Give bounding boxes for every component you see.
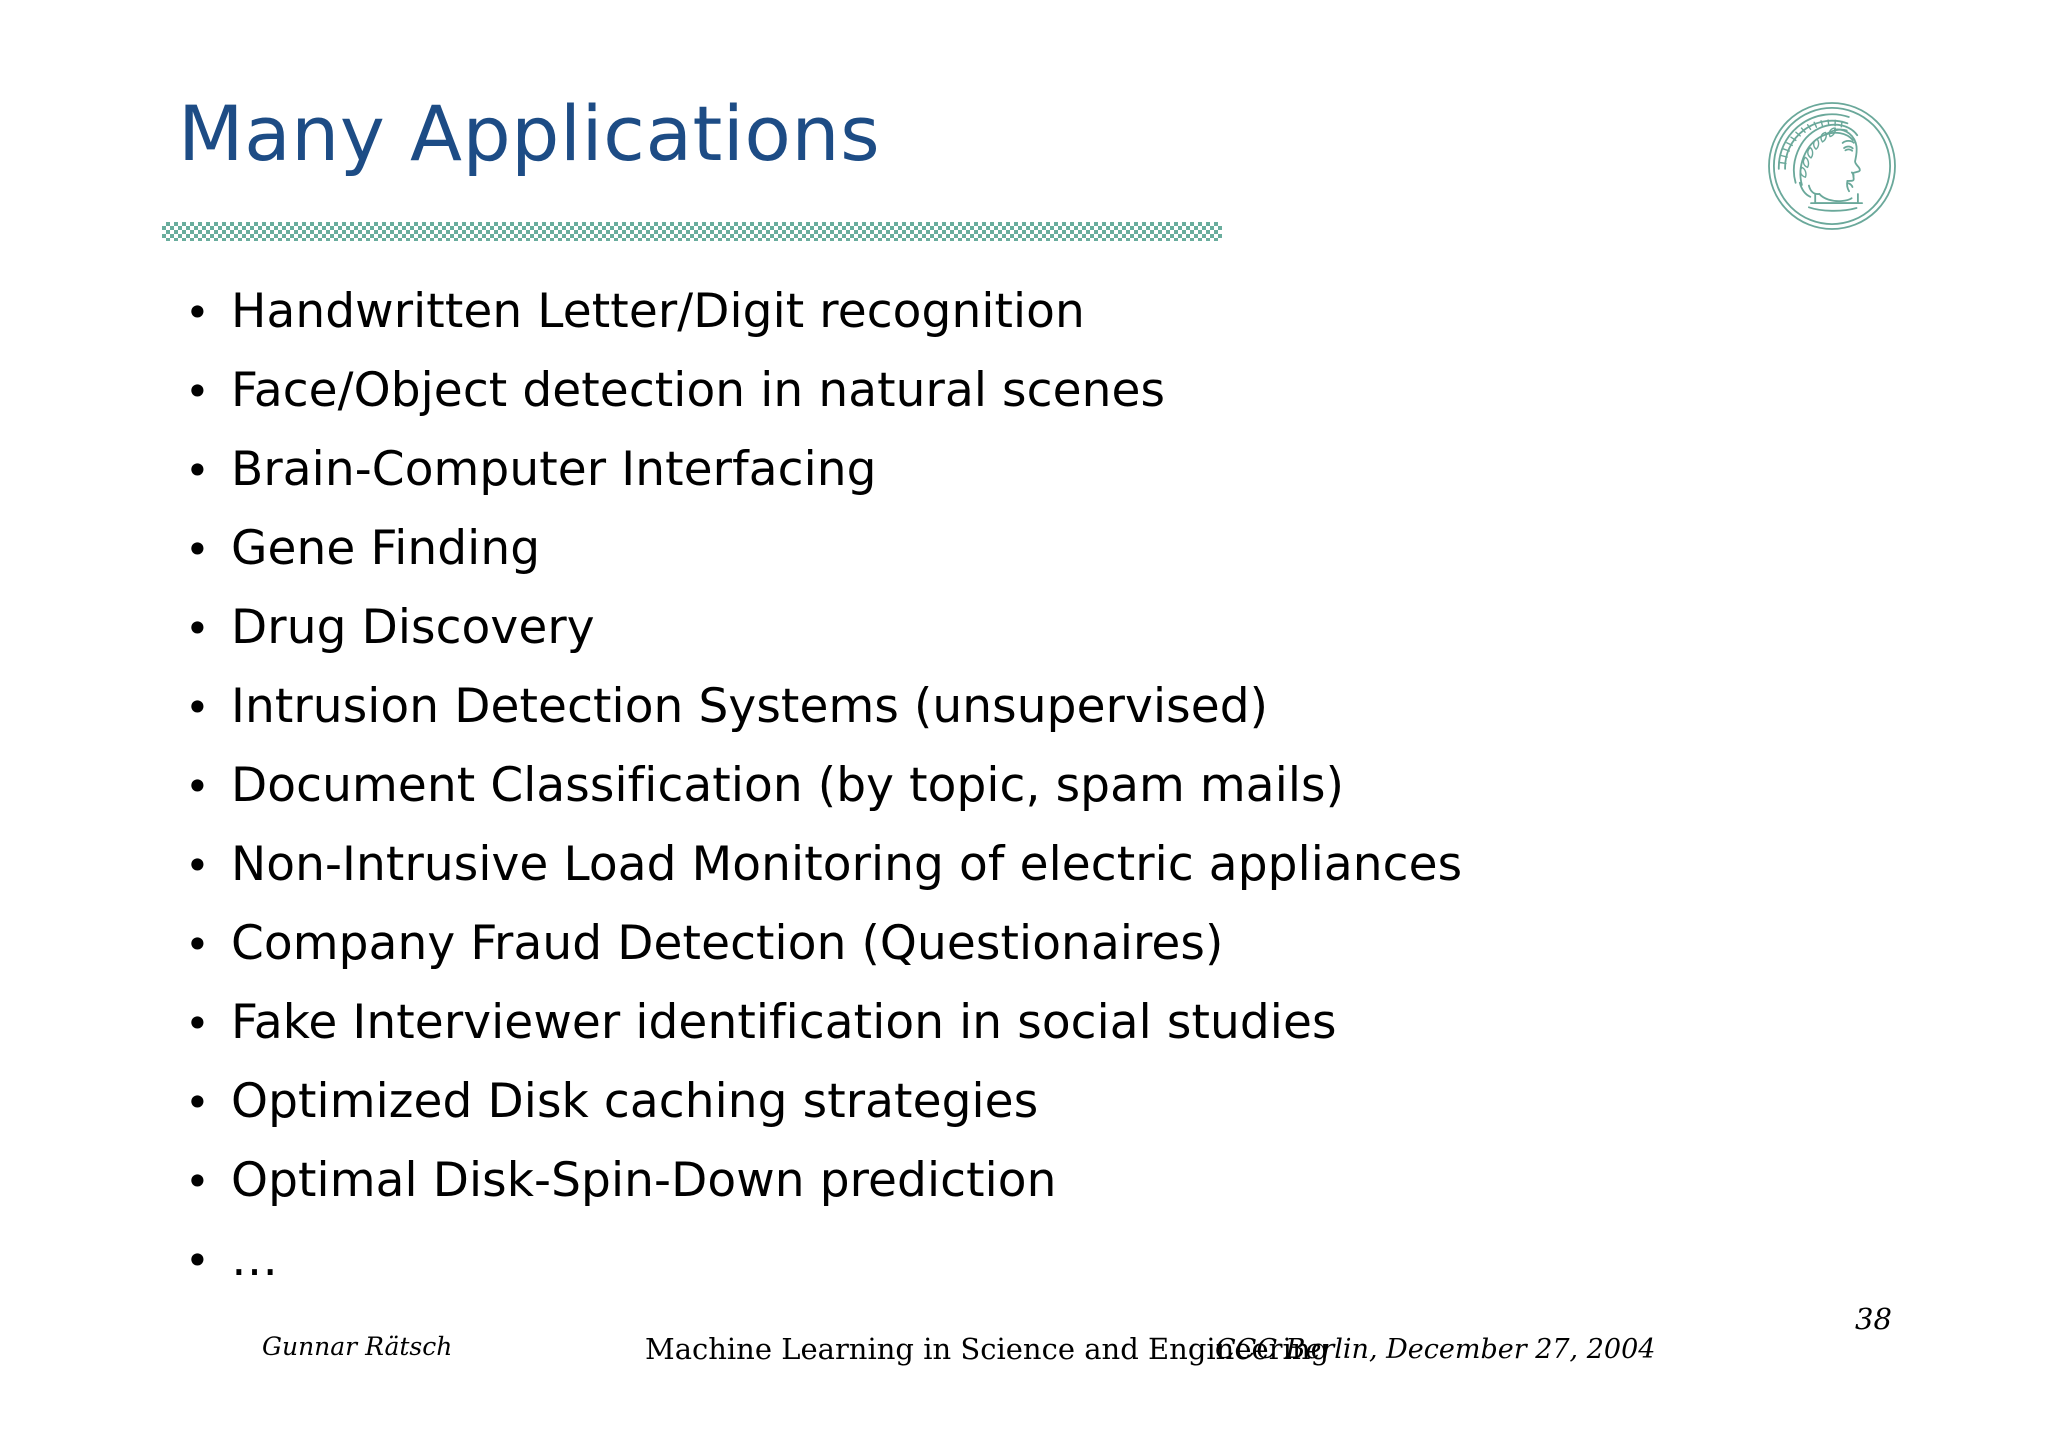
bullet-marker-icon: • (175, 984, 231, 1063)
bullet-marker-icon: • (175, 1221, 231, 1300)
list-item: • Document Classification (by topic, spa… (175, 746, 1955, 825)
bullet-marker-icon: • (175, 273, 231, 352)
bullet-marker-icon: • (175, 826, 231, 905)
list-item: • Intrusion Detection Systems (unsupervi… (175, 667, 1955, 746)
list-item: • Non-Intrusive Load Monitoring of elect… (175, 825, 1955, 904)
list-item-label: Drug Discovery (231, 588, 1955, 667)
list-item-label: Non-Intrusive Load Monitoring of electri… (231, 825, 1955, 904)
list-item-label: Fake Interviewer identification in socia… (231, 983, 1955, 1062)
bullet-marker-icon: • (175, 1142, 231, 1221)
bullet-marker-icon: • (175, 1063, 231, 1142)
list-item: • Fake Interviewer identification in soc… (175, 983, 1955, 1062)
list-item: • Drug Discovery (175, 588, 1955, 667)
footer-event-and-date: CCC Berlin, December 27, 2004 (1215, 1334, 1655, 1365)
list-item-label: Face/Object detection in natural scenes (231, 351, 1955, 430)
bullet-marker-icon: • (175, 510, 231, 589)
title-divider-rule (162, 222, 1222, 241)
list-item-label: Intrusion Detection Systems (unsupervise… (231, 667, 1955, 746)
slide-title: Many Applications (178, 96, 880, 172)
list-item: • Optimal Disk-Spin-Down prediction (175, 1141, 1955, 1220)
list-item-label: … (231, 1220, 1955, 1299)
list-item-label: Company Fraud Detection (Questionaires) (231, 904, 1955, 983)
slide-footer: Gunnar Rätsch Machine Learning in Scienc… (0, 1332, 2048, 1392)
bullet-marker-icon: • (175, 668, 231, 747)
presentation-slide: Many Applications (0, 0, 2048, 1447)
list-item-label: Optimal Disk-Spin-Down prediction (231, 1141, 1955, 1220)
footer-author: Gunnar Rätsch (262, 1332, 452, 1361)
list-item: • Optimized Disk caching strategies (175, 1062, 1955, 1141)
list-item-label: Brain-Computer Interfacing (231, 430, 1955, 509)
list-item: • Company Fraud Detection (Questionaires… (175, 904, 1955, 983)
bullet-marker-icon: • (175, 747, 231, 826)
list-item: • Face/Object detection in natural scene… (175, 351, 1955, 430)
list-item-label: Handwritten Letter/Digit recognition (231, 272, 1955, 351)
list-item-label: Optimized Disk caching strategies (231, 1062, 1955, 1141)
page-number: 38 (1855, 1302, 1892, 1336)
list-item: • … (175, 1220, 1955, 1299)
bullet-marker-icon: • (175, 905, 231, 984)
max-planck-minerva-logo (1762, 96, 1902, 236)
bullet-marker-icon: • (175, 431, 231, 510)
list-item: • Gene Finding (175, 509, 1955, 588)
bullet-marker-icon: • (175, 352, 231, 431)
list-item: • Handwritten Letter/Digit recognition (175, 272, 1955, 351)
list-item: • Brain-Computer Interfacing (175, 430, 1955, 509)
bullet-marker-icon: • (175, 589, 231, 668)
list-item-label: Document Classification (by topic, spam … (231, 746, 1955, 825)
list-item-label: Gene Finding (231, 509, 1955, 588)
applications-bullet-list: • Handwritten Letter/Digit recognition •… (175, 272, 1955, 1299)
